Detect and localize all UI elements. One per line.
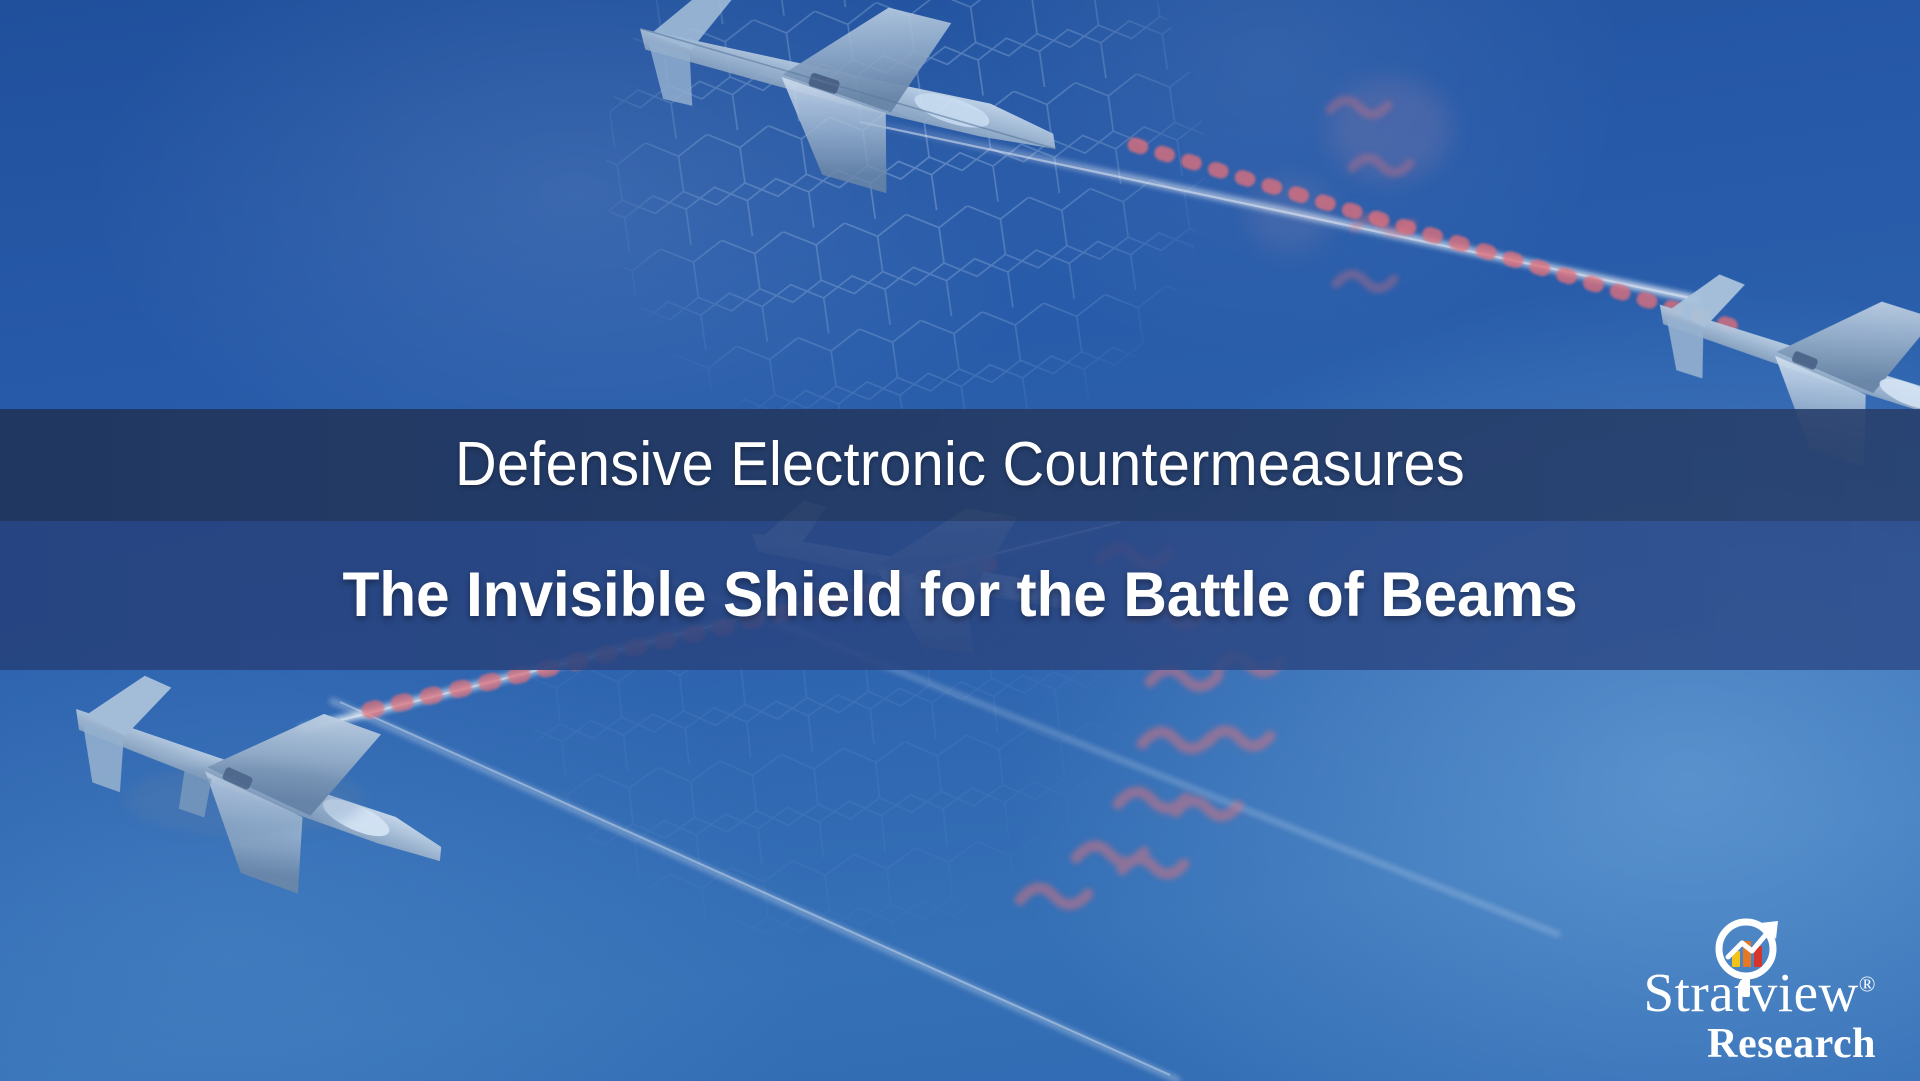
headline-band: Defensive Electronic Countermeasures (0, 409, 1920, 521)
logo-subtitle: Research (1576, 1023, 1876, 1065)
registered-trademark-icon: ® (1859, 972, 1876, 997)
brand-logo[interactable]: Stratview® Research (1576, 913, 1876, 1063)
subheadline-band: The Invisible Shield for the Battle of B… (0, 521, 1920, 670)
banner-image: Defensive Electronic Countermeasures The… (0, 0, 1920, 1081)
logo-brand-text: Stratview (1643, 962, 1858, 1023)
page-subtitle: The Invisible Shield for the Battle of B… (38, 564, 1881, 627)
page-title: Defensive Electronic Countermeasures (67, 434, 1853, 496)
logo-brand-name: Stratview® (1576, 965, 1876, 1020)
jet-bottom-left-underglow (125, 764, 365, 836)
